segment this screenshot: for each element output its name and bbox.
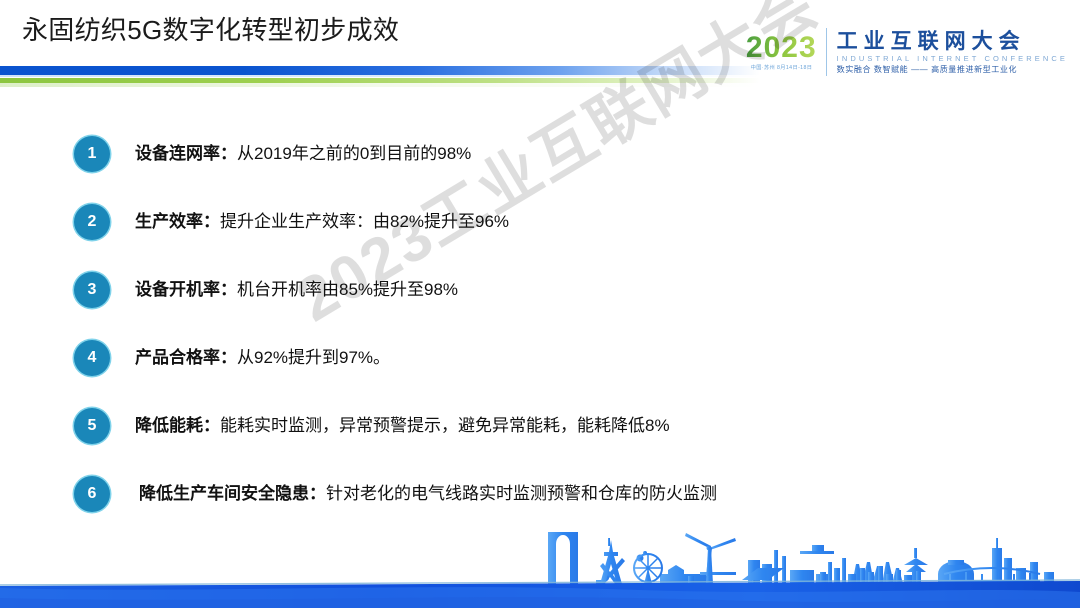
logo-slogan: 数实融合 数智赋能 —— 高质量推进新型工业化 xyxy=(837,64,1068,75)
skyline-graphic xyxy=(0,518,1080,608)
header-rule-green-fade xyxy=(0,83,760,87)
bullet-number-badge: 2 xyxy=(74,204,110,240)
bullet-number-badge: 3 xyxy=(74,272,110,308)
bullet-rest: 机台开机率由85%提升至98% xyxy=(237,280,458,299)
logo-name-cn: 工业互联网大会 xyxy=(837,30,1068,54)
logo-name-block: 工业互联网大会 INDUSTRIAL INTERNET CONFERENCE 数… xyxy=(827,25,1068,79)
bullet-rest: 从92%提升到97%。 xyxy=(237,348,390,367)
bullet-text: 设备连网率：从2019年之前的0到目前的98% xyxy=(135,142,471,166)
bullet-lead: 降低能耗： xyxy=(135,416,220,435)
bullet-text: 降低能耗：能耗实时监测，异常预警提示，避免异常能耗，能耗降低8% xyxy=(135,414,670,438)
logo-year-subtitle: 中国·苏州 8月14日-18日 xyxy=(750,64,812,72)
header-rule-blue-thin xyxy=(0,75,760,77)
bullet-rest: 提升企业生产效率：由82%提升至96% xyxy=(220,212,509,231)
bullet-lead: 产品合格率： xyxy=(135,348,237,367)
bullet-text: 降低生产车间安全隐患：针对老化的电气线路实时监测预警和仓库的防火监测 xyxy=(139,482,717,506)
list-item: 3 设备开机率：机台开机率由85%提升至98% xyxy=(0,256,1080,324)
list-item: 1 设备连网率：从2019年之前的0到目前的98% xyxy=(0,120,1080,188)
bullet-text: 设备开机率：机台开机率由85%提升至98% xyxy=(135,278,458,302)
bullet-lead: 降低生产车间安全隐患： xyxy=(139,484,326,503)
footer-decoration-band xyxy=(0,518,1080,608)
page-title: 永固纺织5G数字化转型初步成效 xyxy=(22,13,399,47)
bullet-lead: 设备开机率： xyxy=(135,280,237,299)
list-item: 4 产品合格率：从92%提升到97%。 xyxy=(0,324,1080,392)
logo-name-en: INDUSTRIAL INTERNET CONFERENCE xyxy=(837,54,1068,64)
slide-canvas: 永固纺织5G数字化转型初步成效 2023 中国·苏州 8月14日-18日 工业互… xyxy=(0,0,1080,608)
bullet-lead: 生产效率： xyxy=(135,212,220,231)
bullet-list: 1 设备连网率：从2019年之前的0到目前的98% 2 生产效率：提升企业生产效… xyxy=(0,120,1080,528)
bullet-number-badge: 1 xyxy=(74,136,110,172)
skyline-silhouettes xyxy=(548,532,1054,585)
bullet-lead: 设备连网率： xyxy=(135,144,237,163)
bullet-text: 产品合格率：从92%提升到97%。 xyxy=(135,346,390,370)
bullet-rest: 从2019年之前的0到目前的98% xyxy=(237,144,471,163)
logo-year: 2023 xyxy=(746,32,817,64)
header-rule-blue xyxy=(0,66,760,75)
bullet-number-badge: 5 xyxy=(74,408,110,444)
bullet-text: 生产效率：提升企业生产效率：由82%提升至96% xyxy=(135,210,509,234)
conference-logo: 2023 中国·苏州 8月14日-18日 工业互联网大会 INDUSTRIAL … xyxy=(746,25,1068,79)
bullet-number-badge: 6 xyxy=(74,476,110,512)
list-item: 2 生产效率：提升企业生产效率：由82%提升至96% xyxy=(0,188,1080,256)
bullet-rest: 能耗实时监测，异常预警提示，避免异常能耗，能耗降低8% xyxy=(220,416,670,435)
bullet-rest: 针对老化的电气线路实时监测预警和仓库的防火监测 xyxy=(326,484,717,503)
list-item: 5 降低能耗：能耗实时监测，异常预警提示，避免异常能耗，能耗降低8% xyxy=(0,392,1080,460)
bullet-number-badge: 4 xyxy=(74,340,110,376)
logo-year-block: 2023 中国·苏州 8月14日-18日 xyxy=(746,25,826,79)
